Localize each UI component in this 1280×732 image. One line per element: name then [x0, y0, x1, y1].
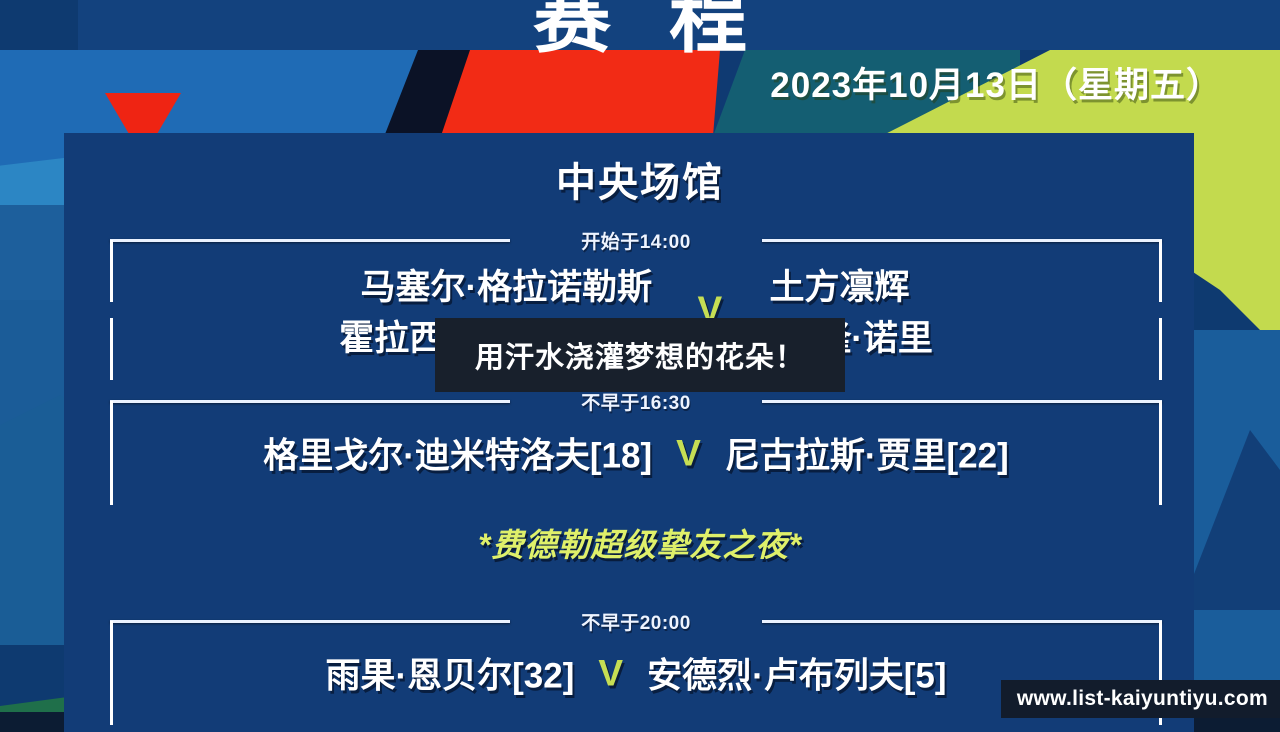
match-2-right-player: 尼古拉斯·贾里[22] — [725, 428, 1009, 479]
match-2-separator: V — [676, 432, 701, 474]
venue-title: 中央场馆 — [0, 150, 1280, 208]
match-2: 格里戈尔·迪米特洛夫[18] V 尼古拉斯·贾里[22] — [110, 428, 1162, 479]
match-3-left-player: 雨果·恩贝尔[32] — [325, 648, 574, 699]
poster-date: 2023年10月13日（星期五） — [770, 57, 1222, 108]
schedule-poster: 赛程 2023年10月13日（星期五） 中央场馆 开始于14:00 马塞尔·格拉… — [0, 0, 1280, 732]
match-1-left-line1: 马塞尔·格拉诺勒斯 — [361, 268, 653, 307]
match-1-right-line1: 土方凛辉 — [770, 268, 910, 307]
quote-overlay-text: 用汗水浇灌梦想的花朵！ — [475, 334, 805, 376]
match-3-right-player: 安德烈·卢布列夫[5] — [647, 648, 946, 699]
special-note: *费德勒超级挚友之夜* — [0, 520, 1280, 566]
match-3-separator: V — [598, 652, 623, 694]
watermark-url[interactable]: www.list-kaiyuntiyu.com — [1017, 687, 1268, 711]
watermark-banner: www.list-kaiyuntiyu.com — [1001, 680, 1280, 718]
match-bracket-2: 格里戈尔·迪米特洛夫[18] V 尼古拉斯·贾里[22] — [110, 401, 1162, 505]
quote-overlay-banner: 用汗水浇灌梦想的花朵！ — [435, 318, 845, 392]
match-2-left-player: 格里戈尔·迪米特洛夫[18] — [263, 428, 652, 479]
